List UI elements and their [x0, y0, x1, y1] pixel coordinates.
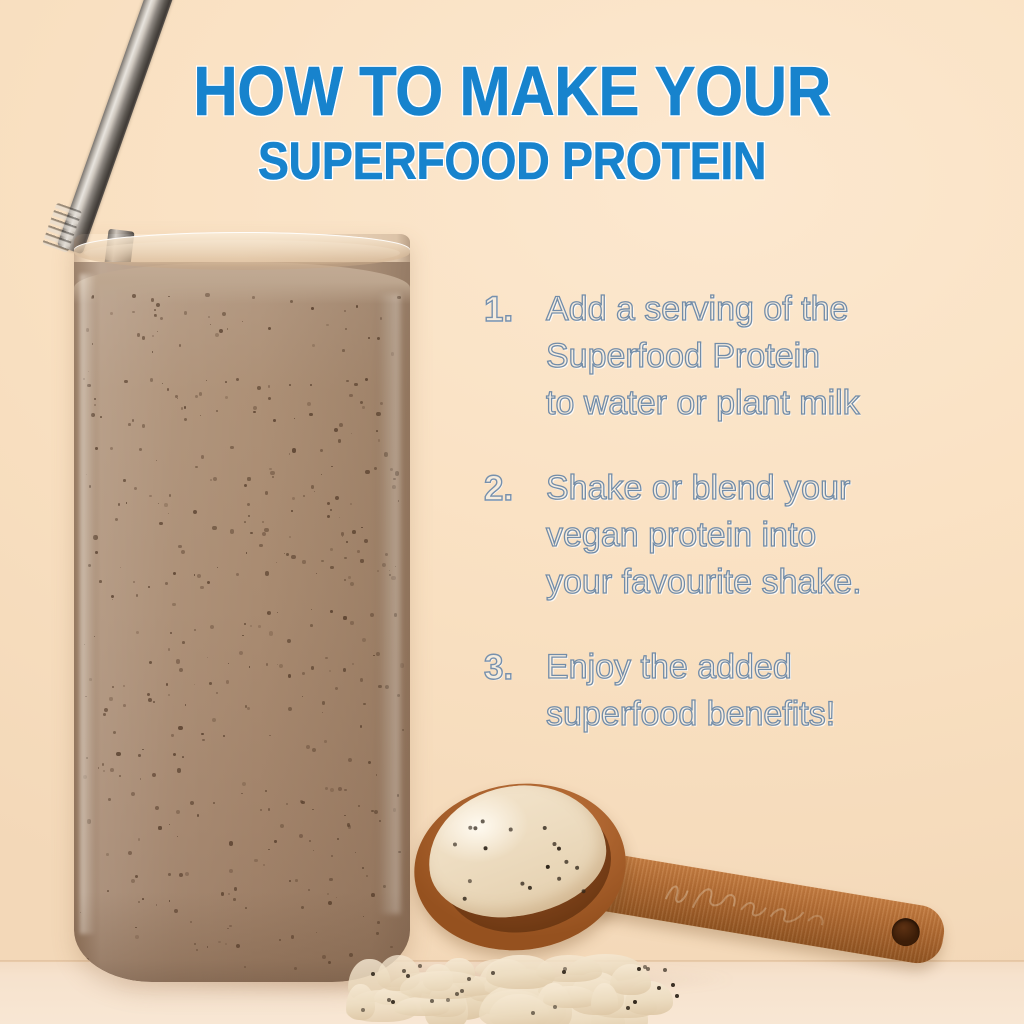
powder-clump [400, 971, 484, 999]
step-item: 3.Enjoy the addedsuperfood benefits! [484, 644, 954, 738]
powder-clump [394, 997, 449, 1016]
seed-speck [402, 969, 406, 973]
spilled-powder-pile [345, 946, 701, 1024]
seed-speck [453, 842, 457, 846]
step-text-line: vegan protein into [546, 512, 954, 559]
seed-speck [520, 882, 524, 886]
seed-speck [484, 846, 488, 850]
smoothie-speckles [74, 262, 410, 982]
seed-speck [473, 826, 477, 830]
step-text: Shake or blend yourvegan protein intoyou… [546, 465, 954, 606]
glass-highlight-left [80, 274, 96, 934]
seed-speck [562, 970, 566, 974]
seed-speck [546, 864, 550, 868]
seed-speck [574, 865, 578, 869]
seed-speck [557, 876, 561, 880]
seed-speck [637, 967, 641, 971]
step-text-line: Add a serving of the [546, 286, 954, 333]
step-text-line: your favourite shake. [546, 559, 954, 606]
step-number: 1. [484, 286, 546, 427]
seed-speck [675, 994, 679, 998]
seed-speck [557, 846, 561, 850]
seed-speck [564, 860, 568, 864]
seed-speck [553, 842, 557, 846]
seed-speck [455, 992, 459, 996]
seed-speck [468, 826, 472, 830]
seed-speck [626, 1006, 630, 1010]
glass-highlight-right [378, 294, 400, 914]
instruction-steps-list: 1.Add a serving of theSuperfood Proteint… [484, 286, 954, 776]
step-item: 1.Add a serving of theSuperfood Proteint… [484, 286, 954, 427]
powder-clump [536, 955, 602, 982]
seed-speck [406, 974, 410, 978]
smoothie-liquid [74, 262, 410, 982]
seed-speck [418, 964, 422, 968]
seed-speck [531, 1011, 535, 1015]
seed-speck [468, 879, 472, 883]
smoothie-glass [74, 234, 410, 982]
promo-graphic: HOW TO MAKE YOUR SUPERFOOD PROTEIN 1.Add… [0, 0, 1024, 1024]
step-item: 2.Shake or blend yourvegan protein intoy… [484, 465, 954, 606]
powder-clump [346, 984, 375, 1020]
step-text-line: to water or plant milk [546, 380, 954, 427]
seed-speck [462, 897, 466, 901]
step-text-line: Shake or blend your [546, 465, 954, 512]
seed-speck [480, 819, 484, 823]
step-text: Enjoy the addedsuperfood benefits! [546, 644, 954, 738]
step-number: 3. [484, 644, 546, 738]
glass-rim-inner [84, 240, 400, 266]
step-text: Add a serving of theSuperfood Proteinto … [546, 286, 954, 427]
seed-speck [542, 826, 546, 830]
seed-speck [430, 999, 434, 1003]
seed-speck [671, 983, 675, 987]
seed-speck [646, 967, 650, 971]
powder-clump [591, 983, 618, 1014]
step-text-line: Superfood Protein [546, 333, 954, 380]
powder-clump [543, 986, 597, 1008]
step-number: 2. [484, 465, 546, 606]
seed-speck [508, 828, 512, 832]
step-text-line: Enjoy the added [546, 644, 954, 691]
seed-speck [663, 968, 667, 972]
step-text-line: superfood benefits! [546, 691, 954, 738]
seed-speck [528, 886, 532, 890]
